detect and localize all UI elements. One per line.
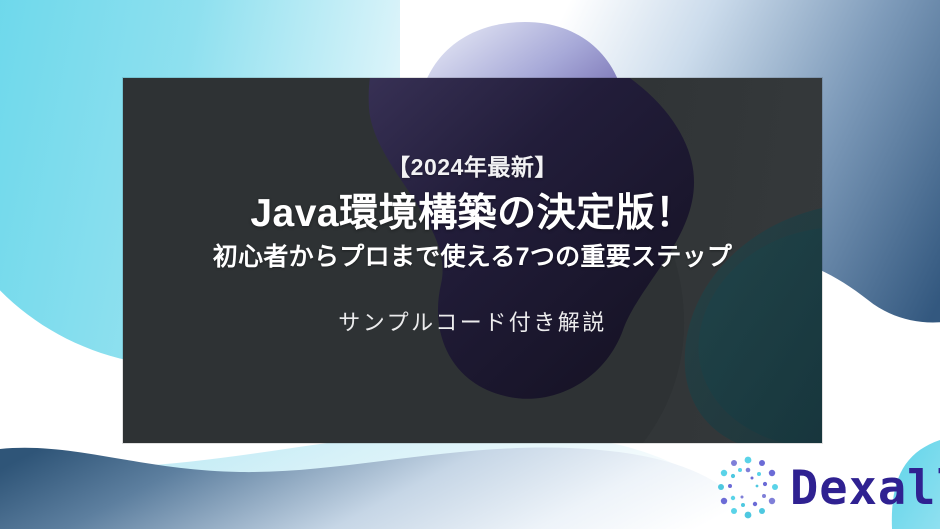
panel-text-block: 【2024年最新】 Java環境構築の決定版！ 初心者からプロまで使える7つの重… [123, 78, 822, 443]
dexall-dot-ring-icon [712, 452, 784, 524]
brand-logo[interactable]: Dexall [712, 452, 940, 524]
subheadline-text: 初心者からプロまで使える7つの重要ステップ [213, 243, 732, 272]
content-panel: 【2024年最新】 Java環境構築の決定版！ 初心者からプロまで使える7つの重… [123, 78, 822, 443]
tagline-text: サンプルコード付き解説 [338, 310, 606, 336]
headline-text: Java環境構築の決定版！ [250, 192, 694, 236]
slide-canvas: 【2024年最新】 Java環境構築の決定版！ 初心者からプロまで使える7つの重… [0, 0, 940, 529]
logo-wordmark: Dexall [790, 465, 940, 512]
eyebrow-text: 【2024年最新】 [387, 155, 558, 180]
